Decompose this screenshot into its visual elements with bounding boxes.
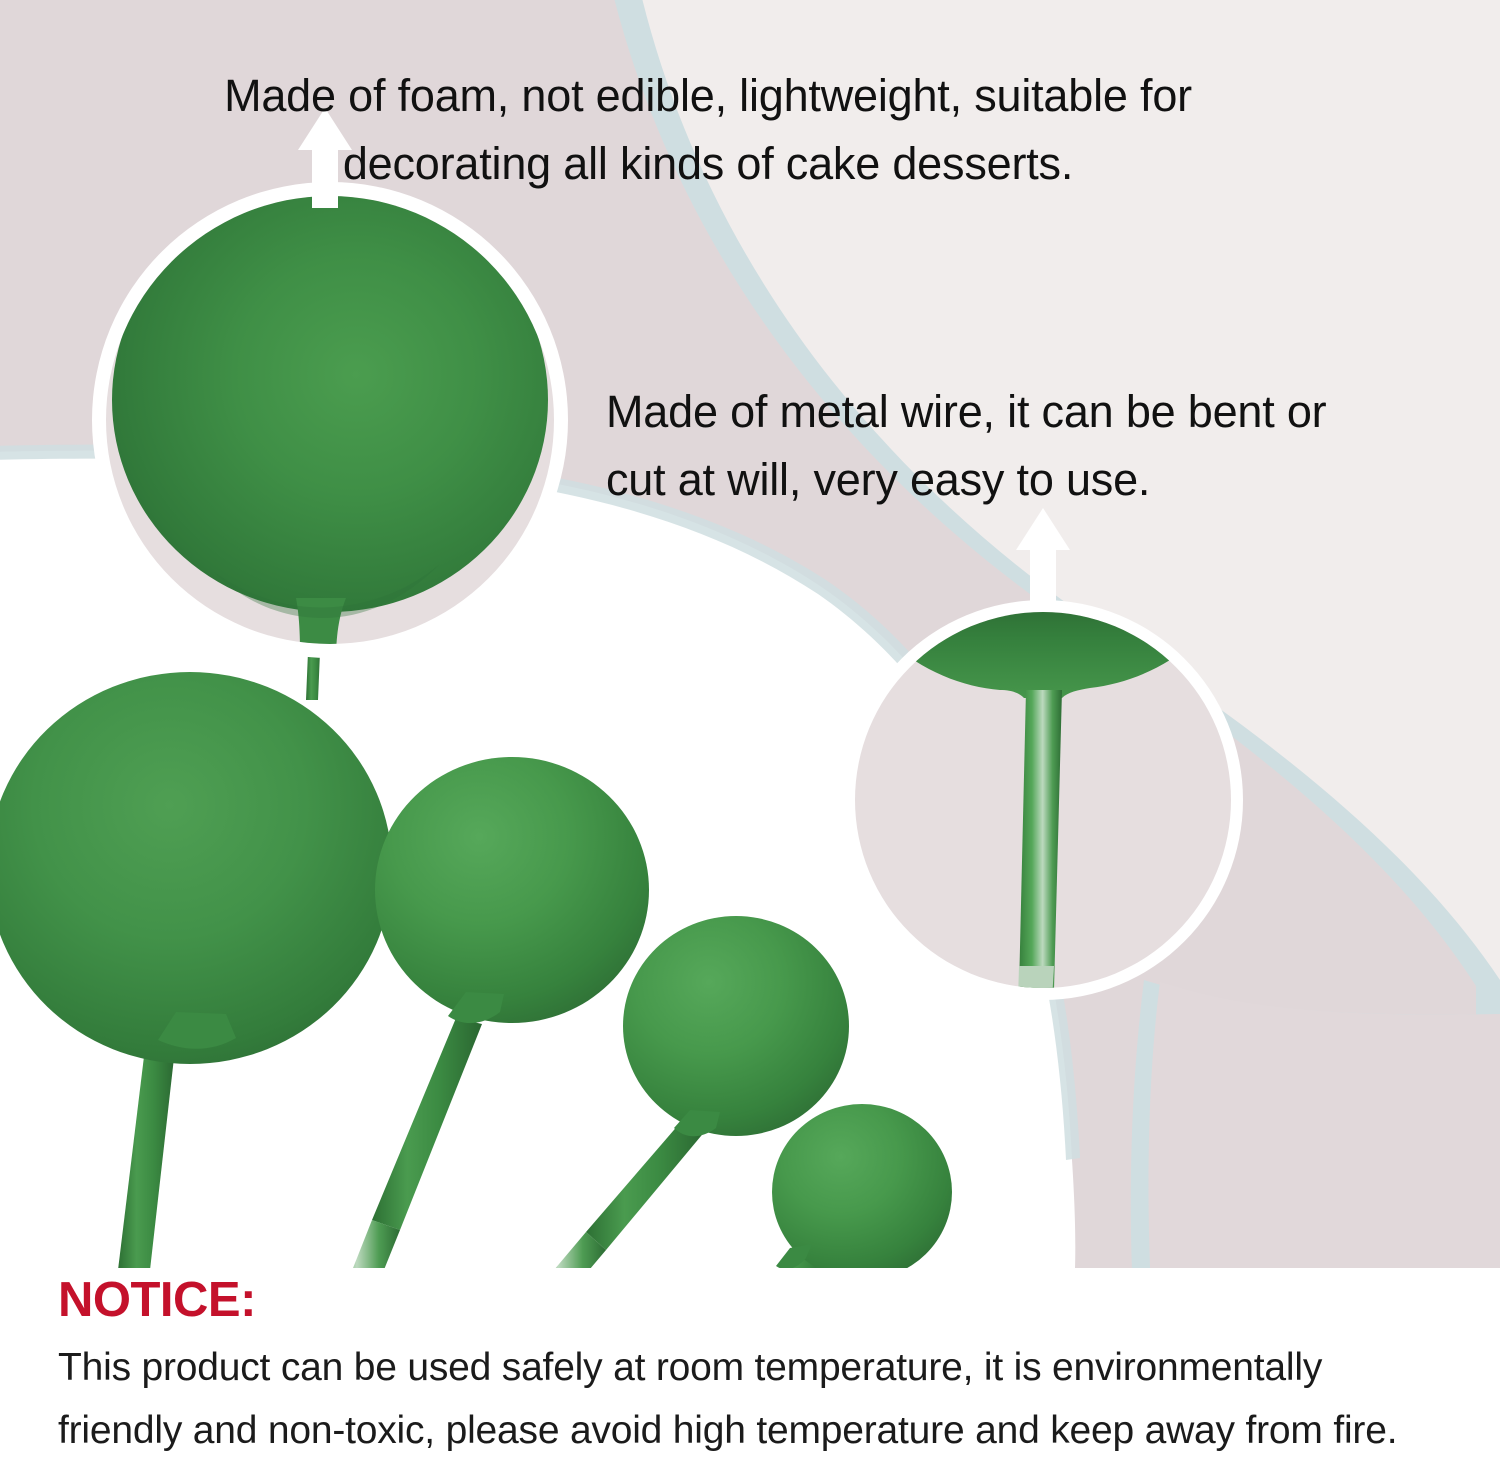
infographic-artwork bbox=[0, 0, 1500, 1458]
magnifier-foam-ball bbox=[92, 182, 568, 660]
background-lower-right-panel-fill bbox=[1148, 982, 1500, 1268]
callout-text-wire: Made of metal wire, it can be bent or cu… bbox=[606, 378, 1486, 515]
notice-body: This product can be used safely at room … bbox=[58, 1336, 1468, 1458]
foam-ball-1 bbox=[0, 672, 392, 1064]
notice-block: NOTICE: This product can be used safely … bbox=[58, 1275, 1468, 1458]
foam-ball-2 bbox=[375, 757, 649, 1023]
product-infographic: Made of foam, not edible, lightweight, s… bbox=[0, 0, 1500, 1458]
notice-heading: NOTICE: bbox=[58, 1275, 1468, 1327]
callout-text-foam: Made of foam, not edible, lightweight, s… bbox=[118, 62, 1298, 199]
foam-ball-3 bbox=[623, 916, 849, 1136]
